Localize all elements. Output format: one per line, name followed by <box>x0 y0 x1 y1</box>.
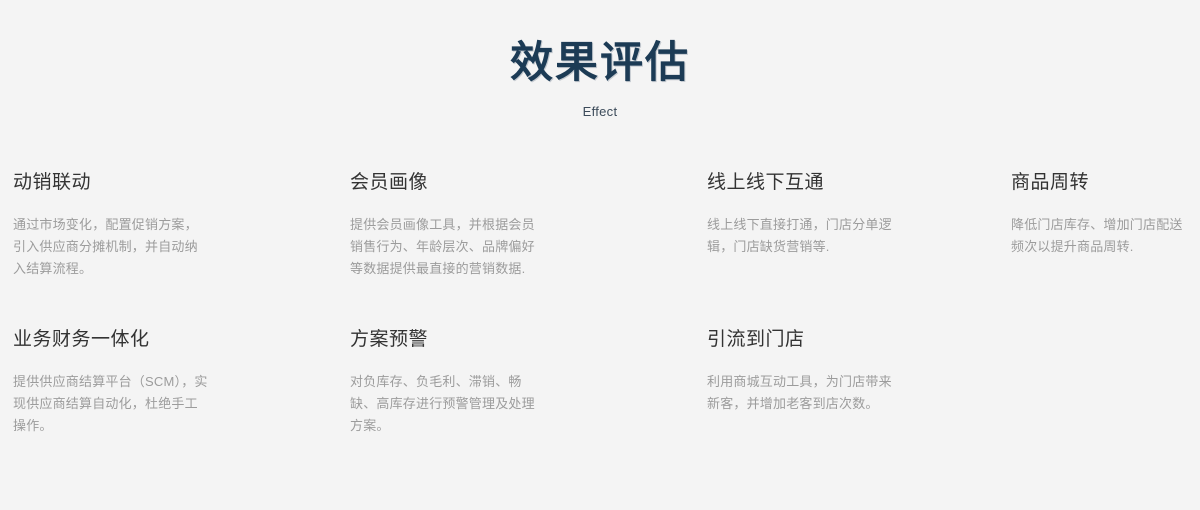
page-title: 效果评估 <box>0 38 1200 90</box>
feature-card-fanganyujing[interactable]: 方案预警 对负库存、负毛利、滞销、畅缺、高库存进行预警管理及处理方案。 <box>350 327 681 455</box>
page-header: 效果评估 Effect <box>0 0 1200 121</box>
feature-card-yewucaiwuyitihua[interactable]: 业务财务一体化 提供供应商结算平台（SCM），实现供应商结算自动化，杜绝手工操作… <box>13 327 328 455</box>
feature-card-title: 会员画像 <box>350 170 681 196</box>
feature-cell: 业务财务一体化 提供供应商结算平台（SCM），实现供应商结算自动化，杜绝手工操作… <box>0 327 338 455</box>
feature-card-title: 商品周转 <box>1011 170 1190 196</box>
feature-card-shangpinzhouzhuan[interactable]: 商品周转 降低门店库存、增加门店配送频次以提升商品周转. <box>1011 170 1190 298</box>
feature-row: 业务财务一体化 提供供应商结算平台（SCM），实现供应商结算自动化，杜绝手工操作… <box>0 327 1200 455</box>
feature-card-title: 业务财务一体化 <box>13 327 328 353</box>
feature-cell-empty <box>999 327 1200 345</box>
feature-cell: 引流到门店 利用商城互动工具，为门店带来新客，并增加老客到店次数。 <box>691 327 999 455</box>
feature-card-description: 提供供应商结算平台（SCM），实现供应商结算自动化，杜绝手工操作。 <box>13 371 209 437</box>
feature-card-dongxiaoliandong[interactable]: 动销联动 通过市场变化，配置促销方案，引入供应商分摊机制，并自动纳入结算流程。 <box>13 170 328 298</box>
feature-card-title: 线上线下互通 <box>707 170 989 196</box>
feature-card-description: 降低门店库存、增加门店配送频次以提升商品周转. <box>1011 214 1190 258</box>
feature-row: 动销联动 通过市场变化，配置促销方案，引入供应商分摊机制，并自动纳入结算流程。 … <box>0 170 1200 298</box>
feature-cell: 动销联动 通过市场变化，配置促销方案，引入供应商分摊机制，并自动纳入结算流程。 <box>0 170 338 298</box>
feature-cell: 线上线下互通 线上线下直接打通，门店分单逻辑，门店缺货营销等. <box>691 170 999 298</box>
feature-card-title: 动销联动 <box>13 170 328 196</box>
feature-card-huiyuanhuaxiang[interactable]: 会员画像 提供会员画像工具，并根据会员销售行为、年龄层次、品牌偏好等数据提供最直… <box>350 170 681 298</box>
feature-cell: 会员画像 提供会员画像工具，并根据会员销售行为、年龄层次、品牌偏好等数据提供最直… <box>338 170 691 298</box>
feature-card-description: 对负库存、负毛利、滞销、畅缺、高库存进行预警管理及处理方案。 <box>350 371 546 437</box>
feature-grid: 动销联动 通过市场变化，配置促销方案，引入供应商分摊机制，并自动纳入结算流程。 … <box>0 170 1200 455</box>
feature-cell: 方案预警 对负库存、负毛利、滞销、畅缺、高库存进行预警管理及处理方案。 <box>338 327 691 455</box>
feature-card-yinliudaomendian[interactable]: 引流到门店 利用商城互动工具，为门店带来新客，并增加老客到店次数。 <box>707 327 989 455</box>
feature-card-title: 引流到门店 <box>707 327 989 353</box>
feature-card-description: 提供会员画像工具，并根据会员销售行为、年龄层次、品牌偏好等数据提供最直接的营销数… <box>350 214 546 280</box>
feature-card-xianshangxianxiahutong[interactable]: 线上线下互通 线上线下直接打通，门店分单逻辑，门店缺货营销等. <box>707 170 989 298</box>
feature-card-description: 利用商城互动工具，为门店带来新客，并增加老客到店次数。 <box>707 371 903 415</box>
feature-card-title: 方案预警 <box>350 327 681 353</box>
feature-card-description: 线上线下直接打通，门店分单逻辑，门店缺货营销等. <box>707 214 903 258</box>
feature-card-description: 通过市场变化，配置促销方案，引入供应商分摊机制，并自动纳入结算流程。 <box>13 214 209 280</box>
page-subtitle: Effect <box>0 103 1200 121</box>
feature-cell: 商品周转 降低门店库存、增加门店配送频次以提升商品周转. <box>999 170 1200 298</box>
